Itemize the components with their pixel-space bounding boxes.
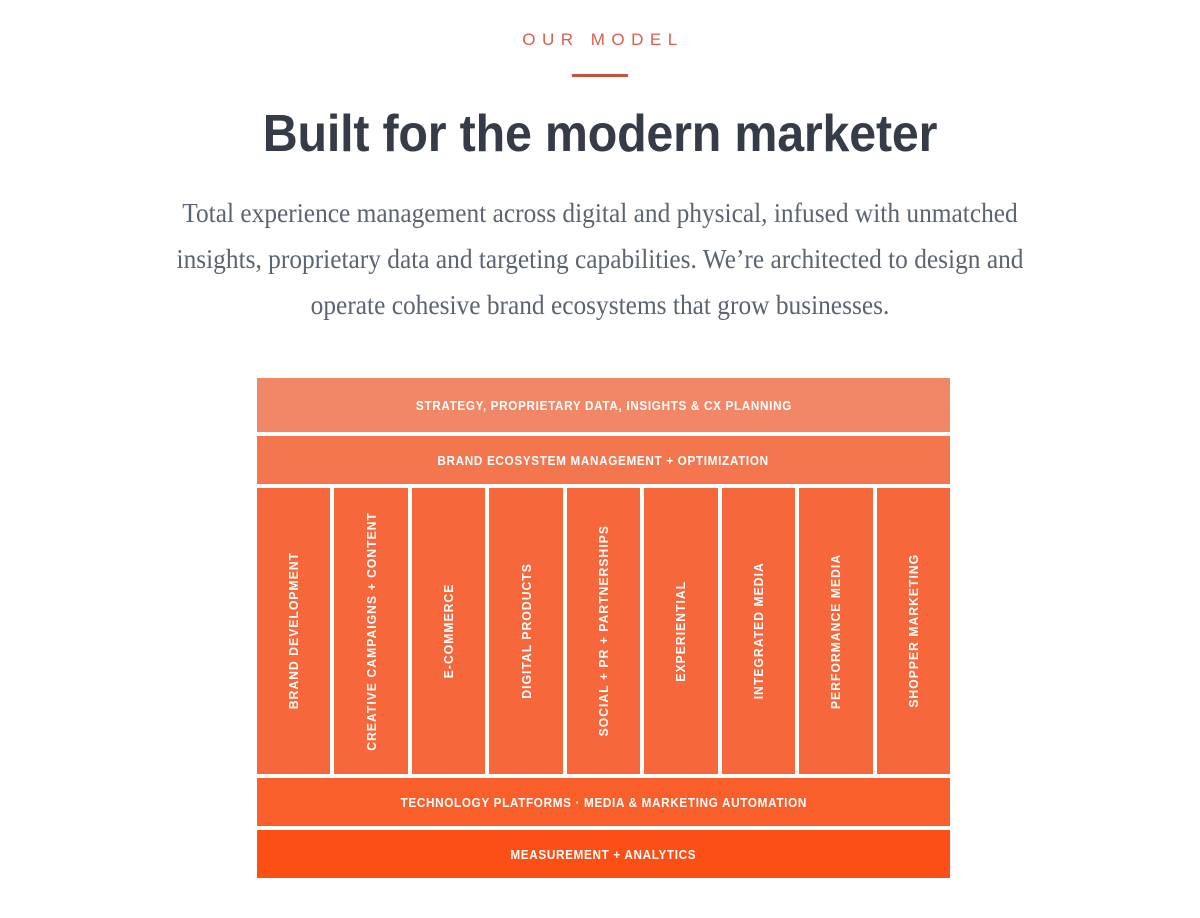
- diagram-capability-columns: BRAND DEVELOPMENT CREATIVE CAMPAIGNS + C…: [257, 488, 950, 774]
- diagram-row-brand-ecosystem: BRAND ECOSYSTEM MANAGEMENT + OPTIMIZATIO…: [257, 436, 950, 484]
- diagram-row-strategy-label: STRATEGY, PROPRIETARY DATA, INSIGHTS & C…: [415, 398, 791, 413]
- diagram-column-shopper-marketing: SHOPPER MARKETING: [877, 488, 950, 774]
- diagram-column-integrated-media-label: INTEGRATED MEDIA: [751, 562, 766, 699]
- diagram-row-strategy: STRATEGY, PROPRIETARY DATA, INSIGHTS & C…: [257, 378, 950, 432]
- diagram-row-measurement-analytics: MEASUREMENT + ANALYTICS: [257, 830, 950, 878]
- diagram-column-experiential: EXPERIENTIAL: [644, 488, 717, 774]
- diagram-row-measurement-analytics-label: MEASUREMENT + ANALYTICS: [511, 847, 697, 862]
- diagram-row-brand-ecosystem-label: BRAND ECOSYSTEM MANAGEMENT + OPTIMIZATIO…: [438, 453, 769, 468]
- diagram-row-technology-platforms-label: TECHNOLOGY PLATFORMS · MEDIA & MARKETING…: [400, 795, 806, 810]
- diagram-column-digital-products-label: DIGITAL PRODUCTS: [519, 563, 534, 699]
- diagram-column-digital-products: DIGITAL PRODUCTS: [489, 488, 562, 774]
- diagram-column-creative-campaigns-label: CREATIVE CAMPAIGNS + CONTENT: [364, 512, 379, 751]
- diagram-column-e-commerce-label: E-COMMERCE: [441, 584, 456, 679]
- section-eyebrow: OUR MODEL: [0, 30, 1200, 50]
- diagram-column-experiential-label: EXPERIENTIAL: [673, 581, 688, 682]
- section-header: OUR MODEL Built for the modern marketer …: [0, 0, 1200, 329]
- diagram-column-e-commerce: E-COMMERCE: [412, 488, 485, 774]
- diagram-column-shopper-marketing-label: SHOPPER MARKETING: [906, 554, 921, 708]
- section-description: Total experience management across digit…: [149, 190, 1051, 329]
- diagram-column-performance-media: PERFORMANCE MEDIA: [799, 488, 872, 774]
- diagram-row-technology-platforms: TECHNOLOGY PLATFORMS · MEDIA & MARKETING…: [257, 778, 950, 826]
- our-model-section: OUR MODEL Built for the modern marketer …: [0, 0, 1200, 918]
- diagram-column-performance-media-label: PERFORMANCE MEDIA: [828, 553, 843, 708]
- diagram-column-social-pr-partnerships-label: SOCIAL + PR + PARTNERSHIPS: [596, 525, 611, 736]
- diagram-column-creative-campaigns: CREATIVE CAMPAIGNS + CONTENT: [334, 488, 407, 774]
- page-title: Built for the modern marketer: [42, 106, 1158, 163]
- eyebrow-divider: [572, 74, 628, 77]
- diagram-column-integrated-media: INTEGRATED MEDIA: [722, 488, 795, 774]
- diagram-column-social-pr-partnerships: SOCIAL + PR + PARTNERSHIPS: [567, 488, 640, 774]
- diagram-column-brand-development-label: BRAND DEVELOPMENT: [286, 552, 301, 709]
- model-diagram: STRATEGY, PROPRIETARY DATA, INSIGHTS & C…: [257, 378, 950, 878]
- diagram-column-brand-development: BRAND DEVELOPMENT: [257, 488, 330, 774]
